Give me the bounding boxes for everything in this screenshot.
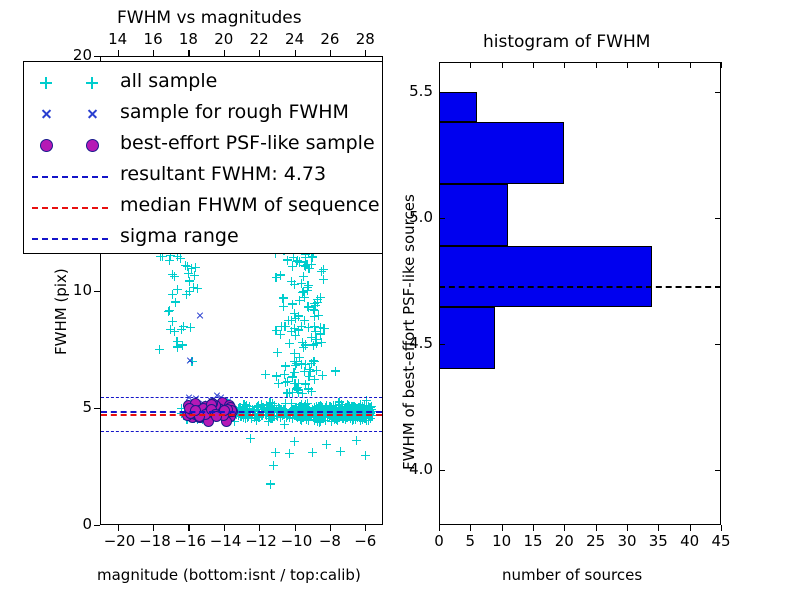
hist-y-tick-label: 4.5 [395, 334, 433, 352]
legend-symbol-cell [24, 191, 116, 224]
hist-x-tick-mark [502, 525, 503, 531]
x-tick-mark [153, 525, 154, 531]
top-x-tick-mark [153, 50, 154, 56]
legend-label: sigma range [120, 225, 239, 247]
top-x-tick-mark [365, 50, 366, 56]
hist-x-tick-mark [564, 525, 565, 531]
top-x-tick-label: 18 [174, 30, 202, 48]
x-tick-label: −12 [245, 532, 273, 550]
sigma-range-upper-line [101, 397, 382, 398]
legend-label: all sample [120, 70, 217, 92]
hist-x-tick-label: 15 [519, 532, 547, 550]
circle-marker-icon [86, 139, 99, 152]
hist-y-tick-mark-right [715, 344, 721, 345]
x-tick-mark [188, 525, 189, 531]
legend-row: sample for rough FWHM [24, 98, 382, 131]
hist-x-tick-label: 20 [550, 532, 578, 550]
legend-box: all samplesample for rough FWHMbest-effo… [23, 61, 383, 254]
top-x-tick-mark [118, 50, 119, 56]
figure-canvas: FWHM vs magnitudes magnitude (bottom:isn… [0, 0, 800, 600]
top-x-tick-label: 24 [281, 30, 309, 48]
hist-y-tick-mark-right [715, 92, 721, 93]
dashed-line-icon [32, 176, 108, 178]
histogram-bar [439, 184, 508, 246]
x-tick-label: −8 [316, 532, 344, 550]
x-tick-label: −18 [139, 532, 167, 550]
legend-row: median FHWM of sequence [24, 191, 382, 224]
legend-label: best-effort PSF-like sample [120, 132, 375, 154]
legend-row: best-effort PSF-like sample [24, 129, 382, 162]
legend-label: median FHWM of sequence [120, 194, 380, 216]
legend-symbol-cell [24, 129, 116, 162]
top-x-tick-label: 16 [139, 30, 167, 48]
hist-x-tick-mark [470, 525, 471, 531]
legend-symbol-cell [24, 98, 116, 131]
hist-x-tick-mark-top [564, 62, 565, 68]
hist-x-tick-mark [533, 525, 534, 531]
top-x-tick-mark [330, 50, 331, 56]
x-tick-label: −16 [174, 532, 202, 550]
right-panel-xlabel: number of sources [502, 566, 642, 584]
x-tick-mark [118, 525, 119, 531]
right-panel-ylabel: FWHM of best-effort PSF-like sources [400, 194, 418, 470]
median-fwhm-line [101, 414, 382, 416]
hist-y-tick-label: 5.5 [395, 82, 433, 100]
hist-y-tick-label: 5.0 [395, 208, 433, 226]
top-x-tick-mark [224, 50, 225, 56]
y-tick-mark [94, 291, 100, 292]
dashed-line-icon [32, 207, 108, 209]
x-tick-label: −6 [351, 532, 379, 550]
y-tick-mark [94, 525, 100, 526]
top-x-tick-mark [188, 50, 189, 56]
x-tick-label: −20 [104, 532, 132, 550]
top-x-tick-mark [259, 50, 260, 56]
hist-x-tick-label: 5 [456, 532, 484, 550]
x-tick-mark [259, 525, 260, 531]
hist-x-tick-label: 25 [582, 532, 610, 550]
legend-row: sigma range [24, 222, 382, 255]
right-panel-title: histogram of FWHM [483, 32, 650, 52]
histogram-bar [439, 246, 652, 308]
y-tick-label: 10 [62, 281, 92, 299]
hist-x-tick-mark [658, 525, 659, 531]
hist-x-tick-mark [721, 525, 722, 531]
top-x-tick-label: 28 [351, 30, 379, 48]
top-x-tick-label: 22 [245, 30, 273, 48]
legend-row: all sample [24, 67, 382, 100]
histogram-reference-line [439, 286, 721, 288]
hist-x-tick-mark [439, 525, 440, 531]
hist-x-tick-mark-top [596, 62, 597, 68]
legend-symbol-cell [24, 160, 116, 193]
legend-row: resultant FWHM: 4.73 [24, 160, 382, 193]
hist-y-tick-mark-right [715, 470, 721, 471]
y-tick-mark [94, 408, 100, 409]
hist-y-tick-mark [439, 344, 445, 345]
resultant-fwhm-line [101, 411, 382, 413]
left-panel-xlabel: magnitude (bottom:isnt / top:calib) [97, 566, 361, 584]
y-tick-label: 0 [62, 515, 92, 533]
histogram-bar [439, 92, 477, 122]
hist-x-tick-mark [596, 525, 597, 531]
hist-x-tick-label: 10 [488, 532, 516, 550]
hist-y-tick-mark [439, 92, 445, 93]
hist-x-tick-label: 35 [644, 532, 672, 550]
hist-x-tick-mark-top [721, 62, 722, 68]
histogram-bar [439, 122, 564, 184]
hist-y-tick-mark [439, 470, 445, 471]
top-x-tick-mark [295, 50, 296, 56]
legend-label: sample for rough FWHM [120, 101, 349, 123]
y-tick-mark [94, 56, 100, 57]
histogram-bar [439, 307, 495, 369]
sigma-range-lower-line [101, 431, 382, 432]
hist-y-tick-mark-right [715, 218, 721, 219]
hist-y-tick-mark [439, 218, 445, 219]
hist-x-tick-mark-top [690, 62, 691, 68]
hist-x-tick-mark [627, 525, 628, 531]
hist-x-tick-mark-top [658, 62, 659, 68]
x-tick-mark [295, 525, 296, 531]
left-panel-title: FWHM vs magnitudes [117, 8, 302, 28]
x-tick-mark [330, 525, 331, 531]
legend-symbol-cell [24, 222, 116, 255]
hist-x-tick-label: 45 [707, 532, 735, 550]
hist-x-tick-mark-top [533, 62, 534, 68]
legend-symbol-cell [24, 67, 116, 100]
hist-x-tick-label: 40 [676, 532, 704, 550]
dash-dot-line-icon [32, 238, 108, 240]
x-tick-mark [224, 525, 225, 531]
hist-x-tick-mark-top [627, 62, 628, 68]
hist-x-tick-mark [690, 525, 691, 531]
x-tick-label: −10 [281, 532, 309, 550]
legend-label: resultant FWHM: 4.73 [120, 163, 326, 185]
x-tick-label: −14 [210, 532, 238, 550]
top-x-tick-label: 14 [104, 30, 132, 48]
x-tick-mark [365, 525, 366, 531]
hist-x-tick-label: 0 [425, 532, 453, 550]
circle-marker-icon [40, 139, 53, 152]
hist-x-tick-label: 30 [613, 532, 641, 550]
hist-x-tick-mark-top [439, 62, 440, 68]
hist-x-tick-mark-top [502, 62, 503, 68]
hist-y-tick-label: 4.0 [395, 460, 433, 478]
top-x-tick-label: 20 [210, 30, 238, 48]
y-tick-label: 5 [62, 398, 92, 416]
top-x-tick-label: 26 [316, 30, 344, 48]
hist-x-tick-mark-top [470, 62, 471, 68]
